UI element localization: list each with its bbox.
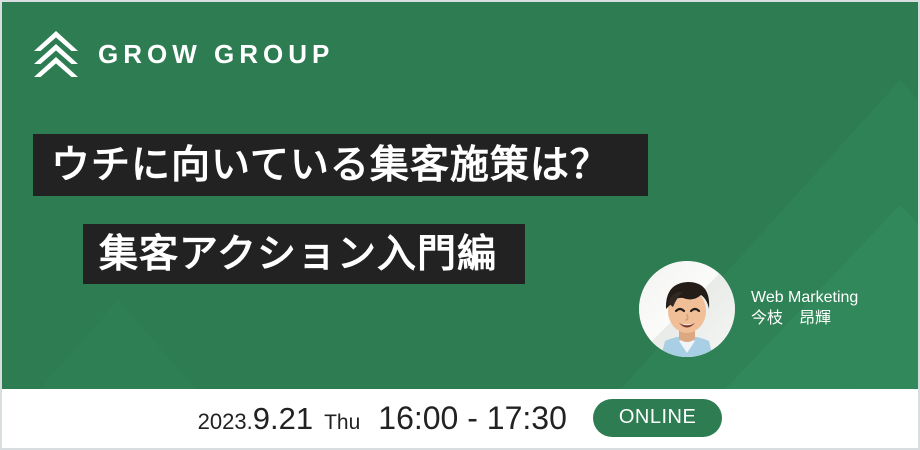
avatar <box>639 261 735 357</box>
schedule-inner: 2023. 9.21 Thu 16:00 - 17:30 ONLINE <box>198 400 723 438</box>
schedule-bar: 2023. 9.21 Thu 16:00 - 17:30 ONLINE <box>0 389 920 450</box>
frame-border-top <box>0 0 920 2</box>
schedule-day-of-week: Thu <box>324 411 360 435</box>
schedule-time-range: 16:00 - 17:30 <box>378 400 567 437</box>
headline-line-2: 集客アクション入門編 <box>99 235 497 274</box>
schedule-month-day: 9.21 <box>253 401 313 437</box>
speaker-portrait-illustration <box>639 261 735 357</box>
speaker-name: 今枝 昂輝 <box>751 309 858 330</box>
headline-line-1: ウチに向いている集客施策は？ <box>51 146 610 185</box>
speaker-role: Web Marketing <box>751 288 858 309</box>
webinar-banner: GROW GROUP ウチに向いている集客施策は？ 集客アクション入門編 <box>0 0 920 450</box>
online-badge: ONLINE <box>593 399 722 437</box>
speaker-block: Web Marketing 今枝 昂輝 <box>639 261 858 357</box>
hero-section: GROW GROUP ウチに向いている集客施策は？ 集客アクション入門編 <box>0 0 920 389</box>
headline-box-primary: ウチに向いている集客施策は？ <box>33 134 648 196</box>
brand-name: GROW GROUP <box>98 41 334 67</box>
frame-border-left <box>0 0 2 389</box>
headline-box-secondary: 集客アクション入門編 <box>83 224 525 284</box>
speaker-details: Web Marketing 今枝 昂輝 <box>751 288 858 330</box>
brand-logo[interactable]: GROW GROUP <box>30 28 334 80</box>
schedule-year: 2023. <box>198 409 253 435</box>
triple-chevron-tree-icon <box>30 28 82 80</box>
